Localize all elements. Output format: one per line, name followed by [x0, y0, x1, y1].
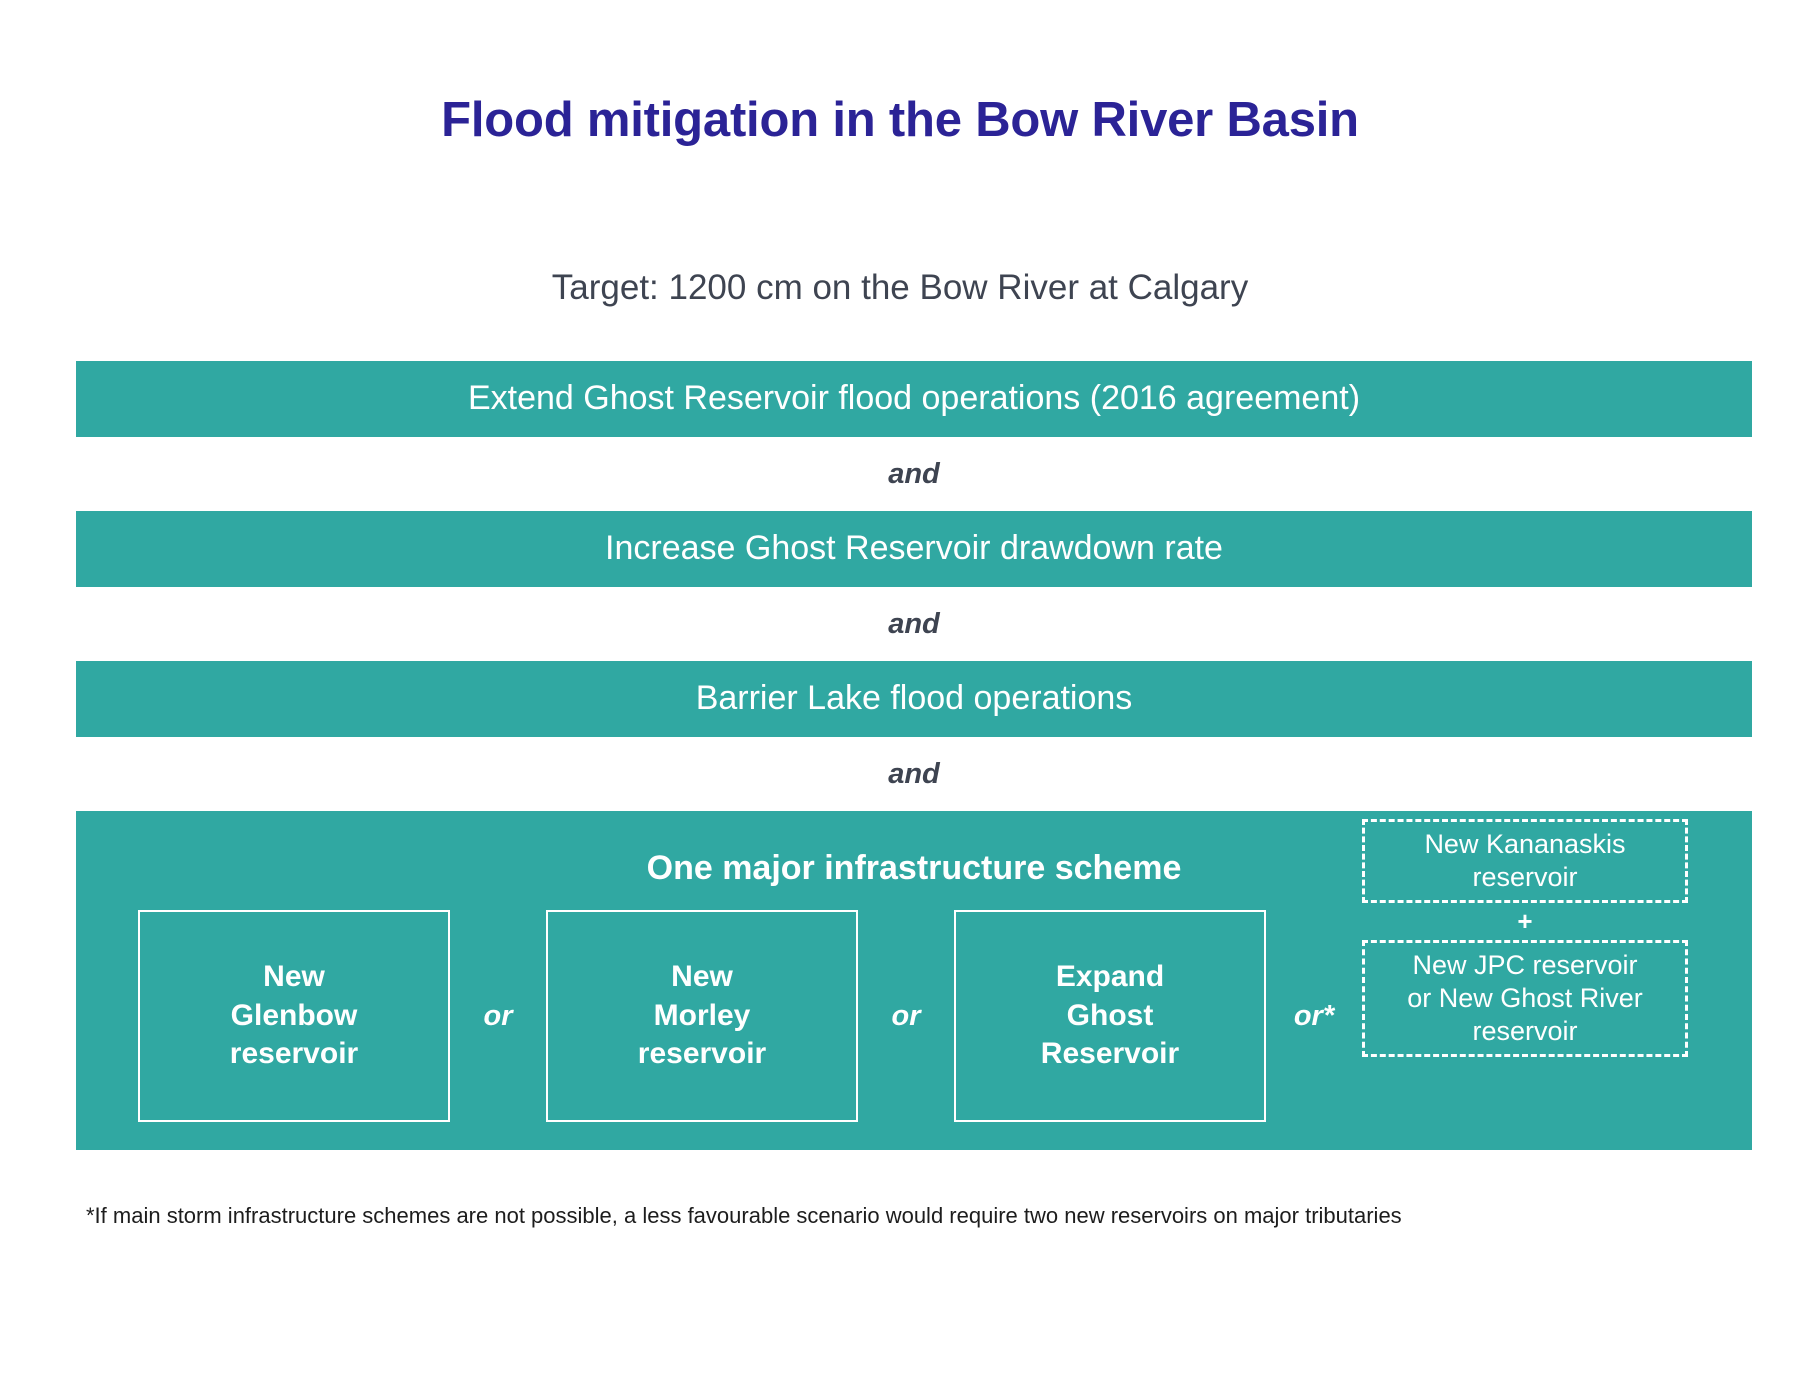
- measure-bar-label: Extend Ghost Reservoir flood operations …: [468, 380, 1360, 417]
- connector-or-footnoted: or*: [1266, 910, 1362, 1122]
- infographic-page: Flood mitigation in the Bow River Basin …: [0, 0, 1800, 1396]
- combination-box-new-jpc-or-ghost-river-reservoir[interactable]: New JPC reservoir or New Ghost River res…: [1362, 940, 1688, 1057]
- connector-or-2: or: [858, 910, 954, 1122]
- scheme-option-new-glenbow-reservoir[interactable]: New Glenbow reservoir: [138, 910, 450, 1122]
- measure-bar-increase-drawdown-rate: Increase Ghost Reservoir drawdown rate: [76, 511, 1752, 587]
- page-title: Flood mitigation in the Bow River Basin: [0, 92, 1800, 148]
- footnote: *If main storm infrastructure schemes ar…: [86, 1203, 1726, 1229]
- connector-and-3: and: [76, 737, 1752, 811]
- scheme-option-new-morley-reservoir[interactable]: New Morley reservoir: [546, 910, 858, 1122]
- connector-and-2: and: [76, 587, 1752, 661]
- measure-bar-barrier-lake-operations: Barrier Lake flood operations: [76, 661, 1752, 737]
- connector-and-1: and: [76, 437, 1752, 511]
- scheme-option-expand-ghost-reservoir[interactable]: Expand Ghost Reservoir: [954, 910, 1266, 1122]
- measure-bar-extend-ghost-flood-operations: Extend Ghost Reservoir flood operations …: [76, 361, 1752, 437]
- measure-bar-label: Increase Ghost Reservoir drawdown rate: [605, 530, 1223, 567]
- scheme-option-combination[interactable]: New Kananaskis reservoir + New JPC reser…: [1362, 832, 1688, 1044]
- subtitle-target: Target: 1200 cm on the Bow River at Calg…: [0, 268, 1800, 308]
- measures-stack: Extend Ghost Reservoir flood operations …: [76, 361, 1752, 1150]
- infrastructure-scheme-panel: One major infrastructure scheme New Glen…: [76, 811, 1752, 1150]
- combination-box-new-kananaskis-reservoir[interactable]: New Kananaskis reservoir: [1362, 819, 1688, 903]
- connector-or-1: or: [450, 910, 546, 1122]
- connector-plus: +: [1362, 903, 1688, 940]
- scheme-options-row: New Glenbow reservoir or New Morley rese…: [76, 910, 1752, 1122]
- measure-bar-label: Barrier Lake flood operations: [696, 680, 1133, 717]
